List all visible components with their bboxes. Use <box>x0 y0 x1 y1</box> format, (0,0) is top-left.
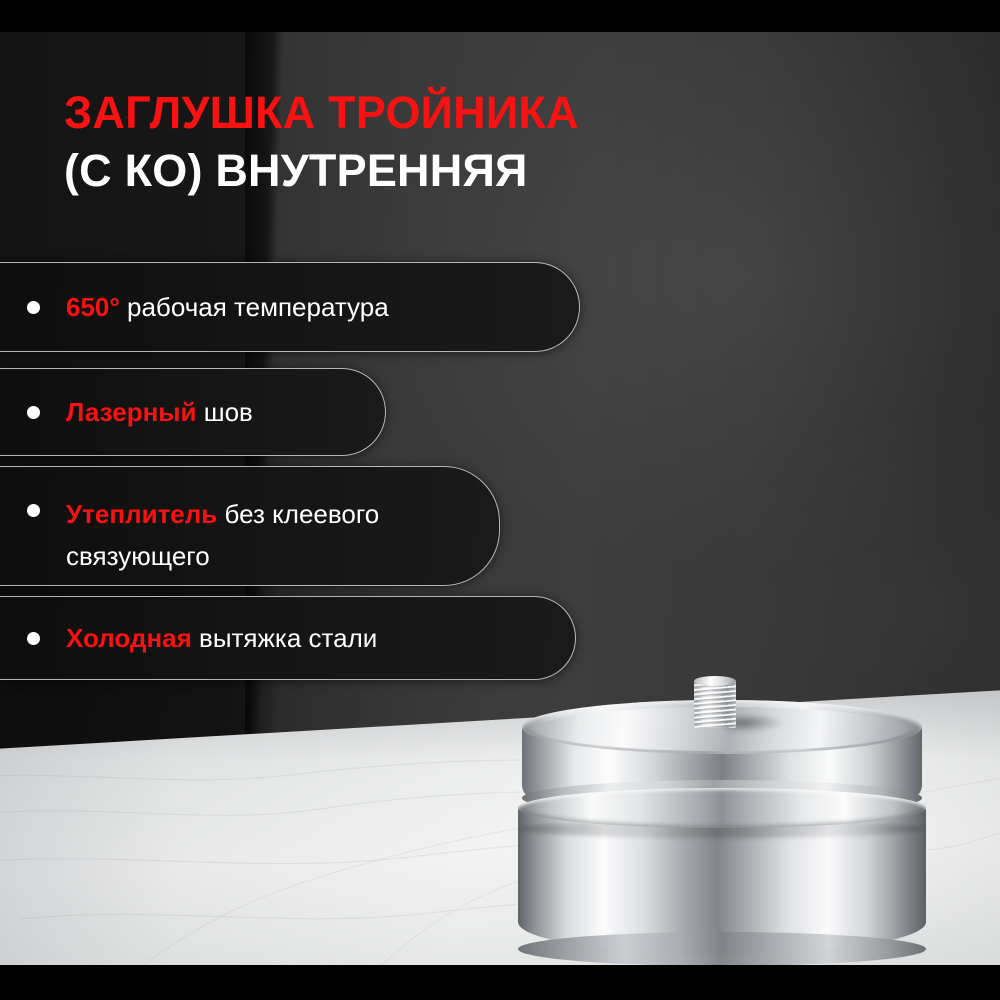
feature-text: Утеплитель без клеевого связующего <box>66 467 499 577</box>
feature-rest: шов <box>196 397 252 427</box>
feature-text: Холодная вытяжка стали <box>66 619 411 657</box>
threaded-stud <box>694 680 736 728</box>
page-title: ЗАГЛУШКА ТРОЙНИКА (С КО) ВНУТРЕННЯЯ <box>64 84 579 200</box>
title-line-2: (С КО) ВНУТРЕННЯЯ <box>64 142 579 200</box>
bullet-dot-icon <box>27 504 40 517</box>
product-banner: ЗАГЛУШКА ТРОЙНИКА (С КО) ВНУТРЕННЯЯ 650°… <box>0 0 1000 1000</box>
bullet-dot-icon <box>27 632 40 645</box>
feature-rest: вытяжка стали <box>192 623 378 653</box>
feature-highlight: Холодная <box>66 623 192 653</box>
title-line-1: ЗАГЛУШКА ТРОЙНИКА <box>64 84 579 142</box>
feature-pill-laser-seam: Лазерный шов <box>0 368 386 456</box>
feature-highlight: Утеплитель <box>66 499 217 529</box>
feature-pill-working-temperature: 650° рабочая температура <box>0 262 580 352</box>
product-stainless-steel-tee-cap <box>516 670 928 960</box>
feature-highlight: Лазерный <box>66 397 196 427</box>
bullet-dot-icon <box>27 406 40 419</box>
feature-text: 650° рабочая температура <box>66 288 423 326</box>
cylinder-bottom-edge <box>518 932 926 965</box>
feature-rest: рабочая температура <box>120 292 389 322</box>
feature-highlight: 650° <box>66 292 120 322</box>
feature-list: 650° рабочая температура Лазерный шов Ут… <box>0 262 1000 680</box>
feature-pill-cold-drawn-steel: Холодная вытяжка стали <box>0 596 576 680</box>
bullet-dot-icon <box>27 301 40 314</box>
letterbox-top <box>0 0 1000 32</box>
letterbox-bottom <box>0 965 1000 1000</box>
feature-pill-insulation-no-glue: Утеплитель без клеевого связующего <box>0 466 500 586</box>
mid-rib-band <box>518 788 926 828</box>
feature-text: Лазерный шов <box>66 393 287 431</box>
